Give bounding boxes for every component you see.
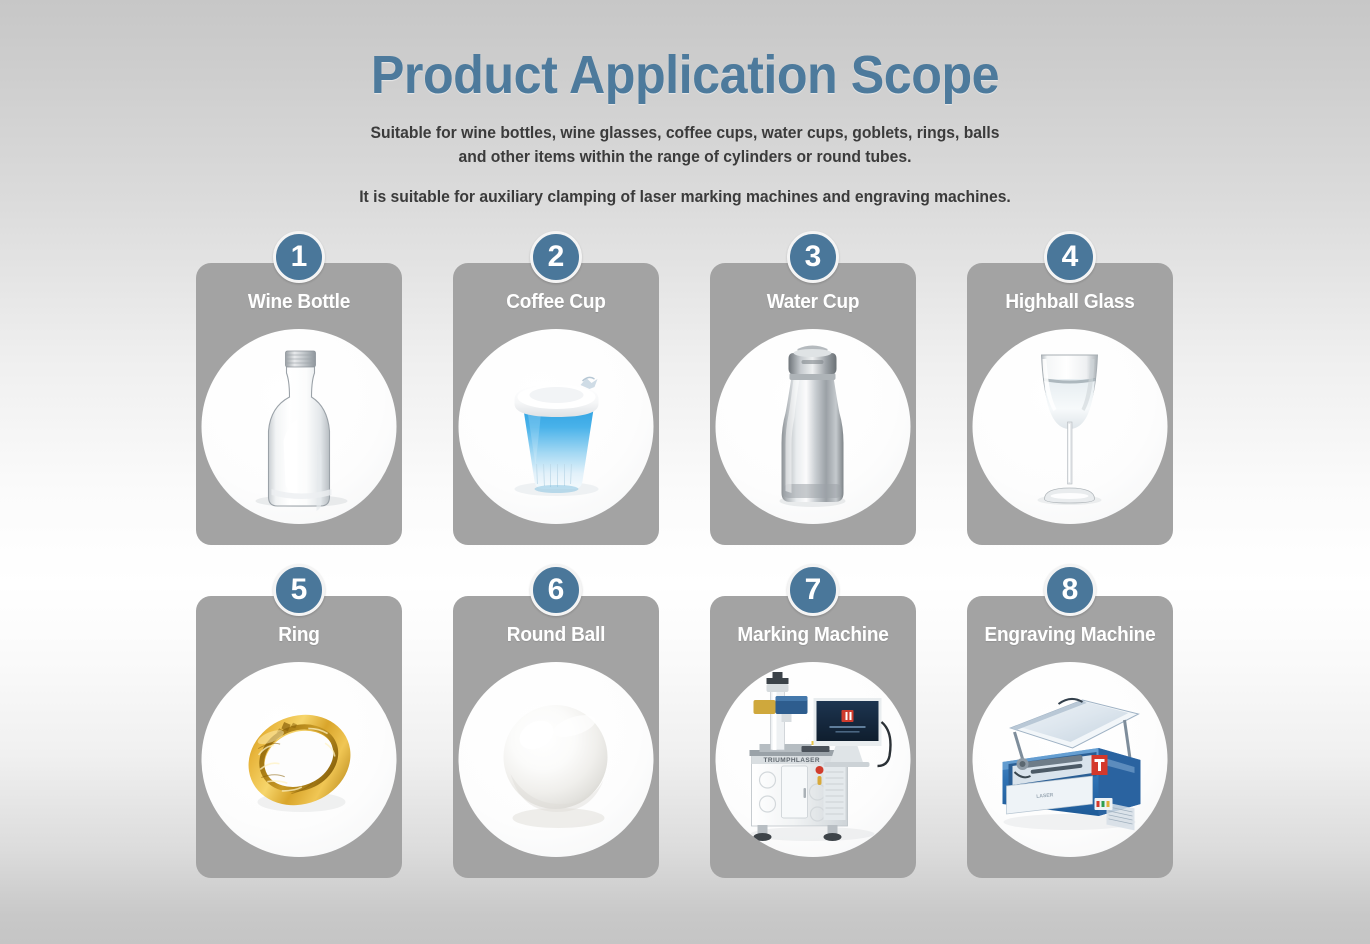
coffee-cup-photo [459,329,654,524]
card-badge-number: 1 [273,231,325,283]
page-header: Product Application Scope Suitable for w… [0,0,1370,207]
gold-ring-photo [202,662,397,857]
card-label: Ring [201,624,397,647]
card-label: Marking Machine [715,624,911,647]
card-label: Water Cup [715,291,911,314]
card-highball-glass[interactable]: 4 Highball Glass [967,263,1173,545]
laser-marking-machine-photo: TRIUMPHLASER [716,662,911,857]
card-badge-number: 8 [1044,564,1096,616]
svg-text:TRIUMPHLASER: TRIUMPHLASER [764,757,820,764]
card-wine-bottle[interactable]: 1 Wine Bottle [196,263,402,545]
laser-engraving-machine-photo: LASER [973,662,1168,857]
card-label: Round Ball [458,624,654,647]
subtitle-line-2: and other items within the range of cyli… [34,146,1336,169]
card-label: Highball Glass [972,291,1168,314]
card-badge-number: 6 [530,564,582,616]
subtitle-line-1: Suitable for wine bottles, wine glasses,… [34,122,1336,145]
water-bottle-photo [716,329,911,524]
card-engraving-machine[interactable]: 8 Engraving Machine [967,596,1173,878]
card-coffee-cup[interactable]: 2 Coffee Cup [453,263,659,545]
page-title: Product Application Scope [48,46,1322,104]
card-badge-number: 3 [787,231,839,283]
card-round-ball[interactable]: 6 Round Ball [453,596,659,878]
card-label: Wine Bottle [201,291,397,314]
subtitle-block: Suitable for wine bottles, wine glasses,… [0,122,1370,207]
round-ball-photo [459,662,654,857]
card-label: Coffee Cup [458,291,654,314]
card-badge-number: 2 [530,231,582,283]
card-badge-number: 5 [273,564,325,616]
card-marking-machine[interactable]: 7 Marking Machine [710,596,916,878]
card-badge-number: 7 [787,564,839,616]
application-card-grid: 1 Wine Bottle [196,263,1174,878]
wine-bottle-photo [202,329,397,524]
card-ring[interactable]: 5 Ring [196,596,402,878]
wine-glass-photo [973,329,1168,524]
card-badge-number: 4 [1044,231,1096,283]
subtitle-line-3: It is suitable for auxiliary clamping of… [34,188,1336,207]
card-water-cup[interactable]: 3 Water Cup [710,263,916,545]
card-label: Engraving Machine [972,624,1168,647]
